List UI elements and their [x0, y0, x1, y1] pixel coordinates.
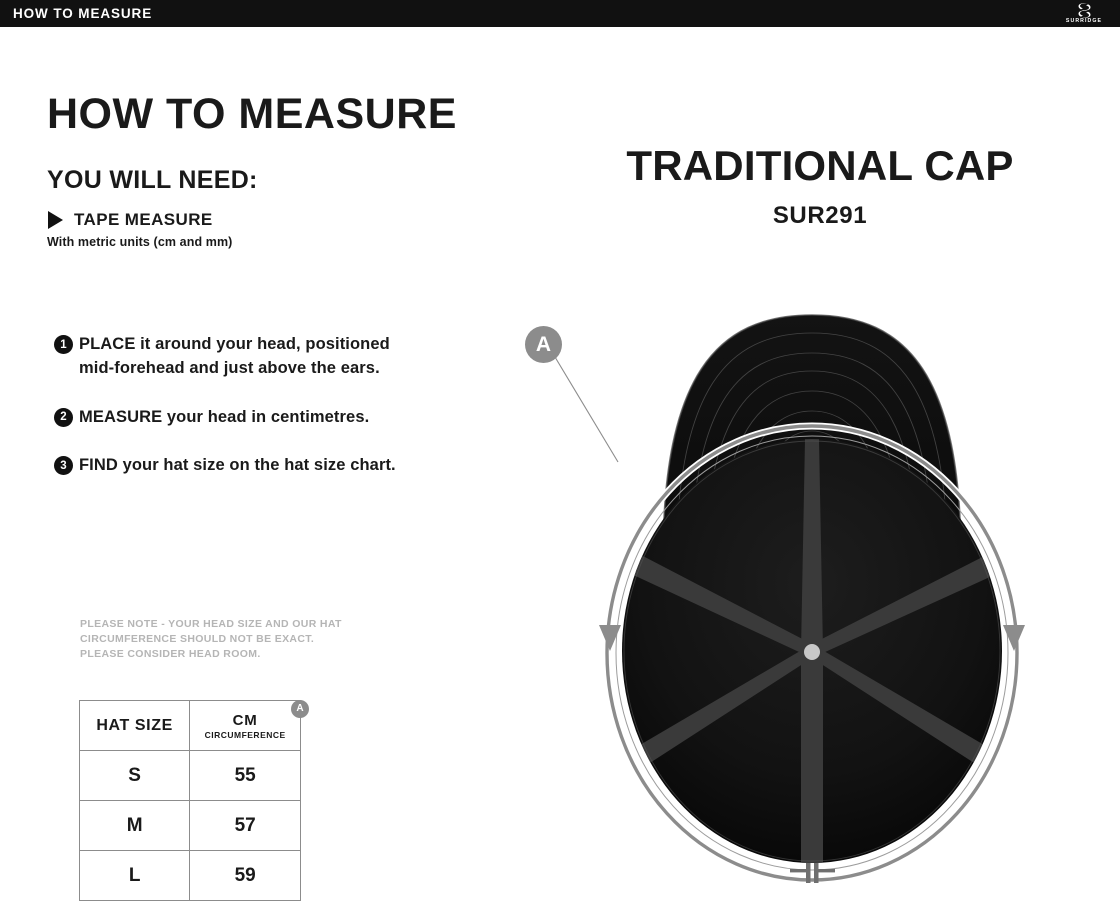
table-header-row: HAT SIZE CM CIRCUMFERENCE A: [80, 701, 301, 751]
note-line: CIRCUMFERENCE SHOULD NOT BE EXACT.: [80, 632, 342, 647]
header-cm-circumference: CM CIRCUMFERENCE A: [190, 701, 301, 751]
step-item: 2 MEASURE your head in centimetres.: [54, 405, 454, 429]
header-hat-size: HAT SIZE: [80, 701, 190, 751]
step-text: PLACE it around your head, positioned mi…: [79, 332, 399, 381]
step-item: 1 PLACE it around your head, positioned …: [54, 332, 454, 381]
cell-cm: 57: [190, 801, 301, 851]
cm-value: 57: [235, 815, 256, 836]
badge-a-leader-line: [552, 352, 618, 462]
page-title: HOW TO MEASURE: [47, 93, 457, 136]
tool-subtext: With metric units (cm and mm): [47, 235, 232, 249]
header-title: HOW TO MEASURE: [13, 6, 152, 21]
crown-center-button: [804, 644, 820, 660]
header-hat-size-label: HAT SIZE: [96, 717, 173, 734]
instructions-column: HOW TO MEASURE YOU WILL NEED: TAPE MEASU…: [0, 27, 560, 883]
surridge-logo: SURRIDGE: [1056, 1, 1112, 26]
cap-diagram: [520, 259, 1120, 883]
measurement-badge-a-table: A: [291, 700, 309, 718]
size-value: S: [128, 765, 141, 786]
triangle-bullet-icon: [48, 211, 63, 229]
cm-value: 55: [235, 765, 256, 786]
header-cm-wrap: CM CIRCUMFERENCE A: [190, 712, 300, 740]
product-title: TRADITIONAL CAP: [520, 145, 1120, 187]
step-item: 3 FIND your hat size on the hat size cha…: [54, 453, 454, 477]
table-row: M 57: [80, 801, 301, 851]
measure-arrow-right-icon: [1003, 625, 1025, 651]
you-will-need-heading: YOU WILL NEED:: [47, 166, 258, 195]
step-text: MEASURE your head in centimetres.: [79, 405, 369, 429]
product-diagram-column: TRADITIONAL CAP SUR291 A: [520, 27, 1120, 883]
product-code: SUR291: [520, 202, 1120, 230]
hat-size-chart: HAT SIZE CM CIRCUMFERENCE A S 55 M 57: [79, 700, 301, 901]
app-header-bar: HOW TO MEASURE SURRIDGE: [0, 0, 1120, 27]
cell-size: L: [80, 851, 190, 901]
cap-illustration-svg: [520, 259, 1120, 883]
size-value: M: [127, 815, 143, 836]
steps-list: 1 PLACE it around your head, positioned …: [54, 332, 454, 502]
cell-cm: 55: [190, 751, 301, 801]
table-row: L 59: [80, 851, 301, 901]
brand-name: SURRIDGE: [1066, 19, 1102, 24]
step-number-badge: 2: [54, 408, 73, 427]
cell-size: M: [80, 801, 190, 851]
disclaimer-note: PLEASE NOTE - YOUR HEAD SIZE AND OUR HAT…: [80, 617, 342, 662]
header-circumference-label: CIRCUMFERENCE: [190, 730, 300, 740]
note-line: PLEASE NOTE - YOUR HEAD SIZE AND OUR HAT: [80, 617, 342, 632]
note-line: PLEASE CONSIDER HEAD ROOM.: [80, 647, 342, 662]
tool-tape-measure: TAPE MEASURE: [48, 210, 213, 230]
measure-arrow-left-icon: [599, 625, 621, 651]
step-number-badge: 3: [54, 456, 73, 475]
step-text: FIND your hat size on the hat size chart…: [79, 453, 396, 477]
table-row: S 55: [80, 751, 301, 801]
size-value: L: [129, 865, 141, 886]
tool-label: TAPE MEASURE: [74, 210, 213, 230]
header-cm-label: CM: [190, 712, 300, 729]
s-monogram-icon: [1078, 3, 1091, 18]
measurement-badge-a-diagram: A: [525, 326, 562, 363]
step-number-badge: 1: [54, 335, 73, 354]
cm-value: 59: [235, 865, 256, 886]
cell-size: S: [80, 751, 190, 801]
cell-cm: 59: [190, 851, 301, 901]
